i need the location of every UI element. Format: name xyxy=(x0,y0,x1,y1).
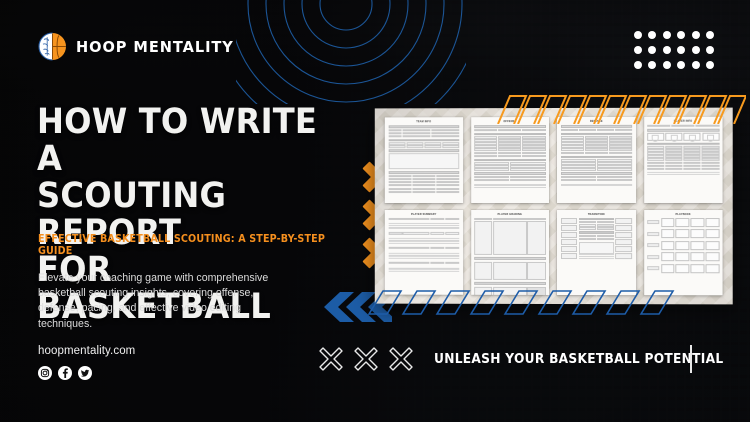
document-sheet: PLAYBOOK xyxy=(644,210,723,296)
brand-name: HOOP MENTALITY xyxy=(76,38,234,56)
document-grid: TEAM INFO OFFENSE xyxy=(375,108,733,305)
sheet-title: TEAM INFO xyxy=(388,120,459,123)
document-sheet: DEFENSE xyxy=(557,117,636,203)
website-url[interactable]: hoopmentality.com xyxy=(38,345,135,357)
twitter-icon[interactable] xyxy=(78,366,92,380)
blue-parallelogram-strip xyxy=(355,288,685,316)
outline-x-mark-2 xyxy=(353,346,379,372)
document-sheet: TRANSITION xyxy=(557,210,636,296)
facebook-icon[interactable] xyxy=(58,366,72,380)
body-description: Elevate your coaching game with comprehe… xyxy=(38,271,283,332)
brain-basketball-icon xyxy=(38,32,67,61)
document-sheet: PLAYER SUMMARY xyxy=(385,209,463,294)
social-links xyxy=(38,366,92,380)
headline-line-1: HOW TO WRITE A xyxy=(37,104,341,178)
sheet-title: PLAYER SUMMARY xyxy=(388,212,459,215)
footer-tagline: UNLEASH YOUR BASKETBALL POTENTIAL xyxy=(434,352,723,367)
poster-canvas: HOOP MENTALITY HOW TO WRITE A SCOUTING R… xyxy=(0,0,750,422)
tagline-end-bar xyxy=(690,345,692,373)
footer-tagline-group: UNLEASH YOUR BASKETBALL POTENTIAL xyxy=(318,346,742,372)
concentric-arcs-decoration xyxy=(236,0,466,104)
brand-logo[interactable]: HOOP MENTALITY xyxy=(38,32,244,61)
subheadline: EFFECTIVE BASKETBALL SCOUTING: A STEP-BY… xyxy=(38,233,354,257)
sheet-title: PLAYBOOK xyxy=(647,213,719,216)
instagram-icon[interactable] xyxy=(38,366,52,380)
sheet-title: PLAYER GRADING xyxy=(474,212,545,215)
document-sheet: PLAYER INFO xyxy=(644,117,723,203)
dot-grid-decoration xyxy=(634,31,720,76)
scouting-report-documents: TEAM INFO OFFENSE xyxy=(375,108,733,305)
document-sheet: OFFENSE xyxy=(471,117,549,202)
document-sheet: TEAM INFO xyxy=(385,117,463,202)
document-sheet: PLAYER GRADING xyxy=(471,209,549,294)
outline-x-mark-3 xyxy=(388,346,414,372)
sheet-title: TRANSITION xyxy=(560,213,632,216)
outline-x-mark-1 xyxy=(318,346,344,372)
orange-chevron-strip xyxy=(496,94,746,124)
